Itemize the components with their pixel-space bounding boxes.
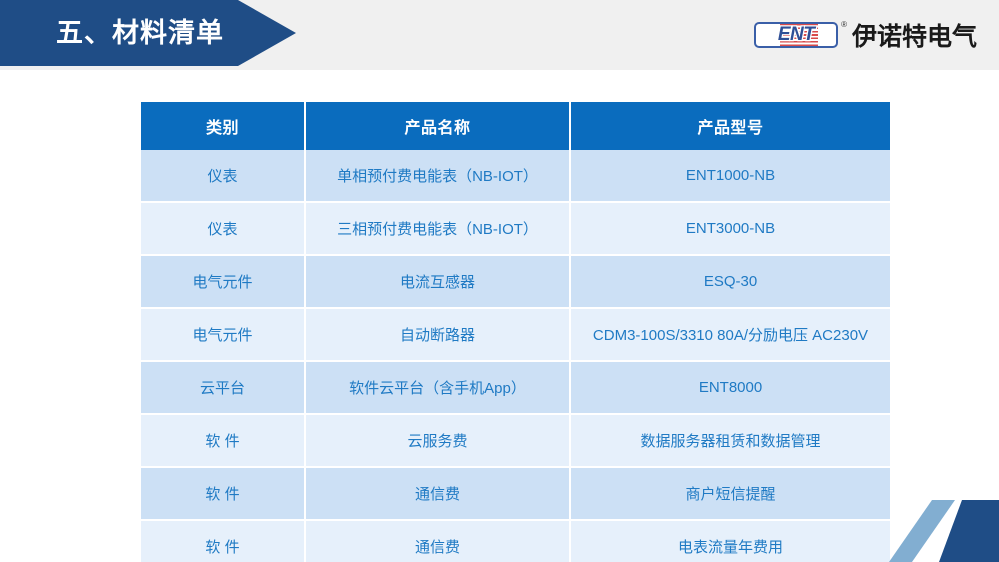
cell-model: 数据服务器租赁和数据管理	[571, 415, 890, 468]
cell-category: 软 件	[141, 521, 306, 562]
cell-model: CDM3-100S/3310 80A/分励电压 AC230V	[571, 309, 890, 362]
table-header: 类别 产品名称 产品型号	[141, 102, 890, 150]
table-row: 软 件 通信费 商户短信提醒	[141, 468, 890, 521]
table-row: 软 件 云服务费 数据服务器租赁和数据管理	[141, 415, 890, 468]
ent-logo-mark: ENT	[754, 22, 838, 48]
table-row: 仪表 单相预付费电能表（NB-IOT） ENT1000-NB	[141, 150, 890, 203]
table-row: 仪表 三相预付费电能表（NB-IOT） ENT3000-NB	[141, 203, 890, 256]
company-logo: ENT ® 伊诺特电气	[754, 18, 977, 52]
slide-canvas: 五、材料清单 ENT ® 伊诺特电气 类别 产品名称 产品型号 仪表 单相预付费…	[0, 0, 999, 562]
cell-product-name: 电流互感器	[306, 256, 571, 309]
cell-model: 电表流量年费用	[571, 521, 890, 562]
corner-decoration	[889, 500, 999, 562]
cell-category: 电气元件	[141, 309, 306, 362]
cell-product-name: 云服务费	[306, 415, 571, 468]
decoration-light-bar	[889, 500, 985, 562]
registered-trademark-icon: ®	[841, 20, 847, 29]
cell-product-name: 三相预付费电能表（NB-IOT）	[306, 203, 571, 256]
decoration-dark-bar	[889, 500, 999, 562]
cell-category: 软 件	[141, 415, 306, 468]
cell-category: 软 件	[141, 468, 306, 521]
cell-model: 商户短信提醒	[571, 468, 890, 521]
company-name: 伊诺特电气	[852, 17, 977, 53]
cell-product-name: 通信费	[306, 521, 571, 562]
column-header-category: 类别	[141, 102, 306, 150]
cell-product-name: 通信费	[306, 468, 571, 521]
table-header-row: 类别 产品名称 产品型号	[141, 102, 890, 150]
materials-table: 类别 产品名称 产品型号 仪表 单相预付费电能表（NB-IOT） ENT1000…	[141, 102, 890, 562]
cell-product-name: 软件云平台（含手机App）	[306, 362, 571, 415]
cell-category: 仪表	[141, 203, 306, 256]
page-title: 五、材料清单	[56, 0, 224, 66]
table-row: 云平台 软件云平台（含手机App） ENT8000	[141, 362, 890, 415]
cell-model: ENT3000-NB	[571, 203, 890, 256]
cell-model: ESQ-30	[571, 256, 890, 309]
logo-mark-text: ENT	[756, 24, 836, 46]
table-body: 仪表 单相预付费电能表（NB-IOT） ENT1000-NB 仪表 三相预付费电…	[141, 150, 890, 562]
cell-category: 云平台	[141, 362, 306, 415]
cell-model: ENT8000	[571, 362, 890, 415]
table-row: 电气元件 电流互感器 ESQ-30	[141, 256, 890, 309]
cell-category: 仪表	[141, 150, 306, 203]
column-header-model: 产品型号	[571, 102, 890, 150]
cell-product-name: 单相预付费电能表（NB-IOT）	[306, 150, 571, 203]
table-row: 电气元件 自动断路器 CDM3-100S/3310 80A/分励电压 AC230…	[141, 309, 890, 362]
cell-product-name: 自动断路器	[306, 309, 571, 362]
table-row: 软 件 通信费 电表流量年费用	[141, 521, 890, 562]
cell-model: ENT1000-NB	[571, 150, 890, 203]
column-header-product-name: 产品名称	[306, 102, 571, 150]
cell-category: 电气元件	[141, 256, 306, 309]
